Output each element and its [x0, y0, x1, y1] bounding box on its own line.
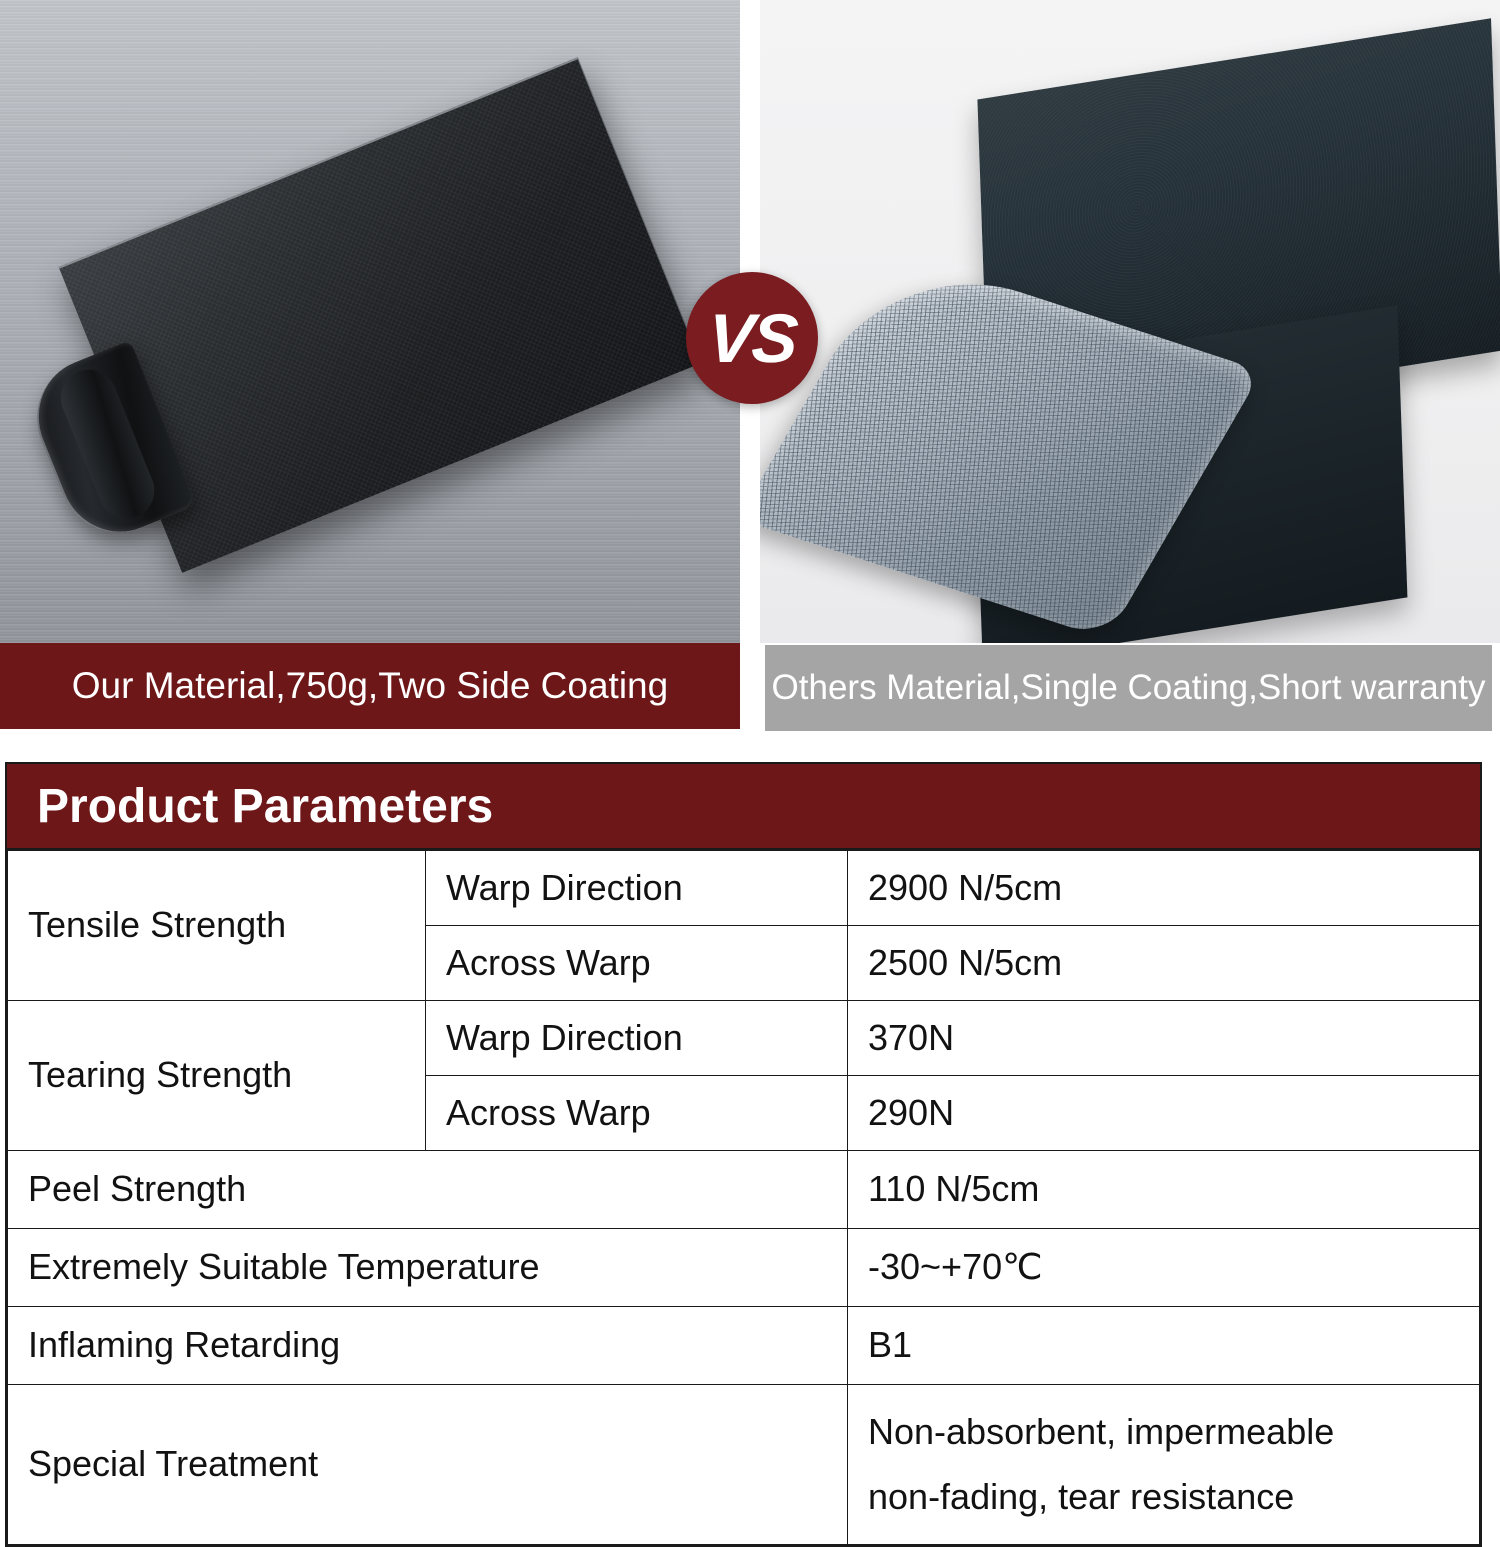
- spec-value-line: non-fading, tear resistance: [868, 1474, 1463, 1520]
- table-row: Peel Strength 110 N/5cm: [8, 1151, 1480, 1229]
- spec-label-peel-strength: Peel Strength: [8, 1151, 848, 1229]
- spec-label-tensile-strength: Tensile Strength: [8, 851, 426, 1001]
- product-parameters-table: Tensile Strength Warp Direction 2900 N/5…: [7, 850, 1480, 1545]
- others-material-photo: [760, 0, 1500, 643]
- our-material-photo: [0, 0, 740, 643]
- product-parameters-block: Product Parameters Tensile Strength Warp…: [5, 762, 1482, 1547]
- spec-value-inflaming-retarding: B1: [848, 1307, 1480, 1385]
- table-row: Tearing Strength Warp Direction 370N: [8, 1001, 1480, 1076]
- spec-sublabel-across-warp: Across Warp: [426, 1076, 848, 1151]
- spec-label-suitable-temperature: Extremely Suitable Temperature: [8, 1229, 848, 1307]
- table-row: Inflaming Retarding B1: [8, 1307, 1480, 1385]
- spec-sublabel-warp-direction: Warp Direction: [426, 851, 848, 926]
- spec-sublabel-warp-direction: Warp Direction: [426, 1001, 848, 1076]
- spec-value-line: Non-absorbent, impermeable: [868, 1409, 1463, 1455]
- table-row: Extremely Suitable Temperature -30~+70℃: [8, 1229, 1480, 1307]
- spec-value-special-treatment: Non-absorbent, impermeable non-fading, t…: [848, 1385, 1480, 1545]
- others-sheet-illustration: [780, 40, 1480, 620]
- table-row: Special Treatment Non-absorbent, imperme…: [8, 1385, 1480, 1545]
- tarp-curl-shadow: [52, 361, 162, 527]
- our-material-caption-text: Our Material,750g,Two Side Coating: [72, 665, 668, 707]
- spec-value-suitable-temperature: -30~+70℃: [848, 1229, 1480, 1307]
- spec-value-peel-strength: 110 N/5cm: [848, 1151, 1480, 1229]
- spec-value-tearing-warp: 370N: [848, 1001, 1480, 1076]
- spec-label-tearing-strength: Tearing Strength: [8, 1001, 426, 1151]
- vs-badge: VS: [686, 272, 818, 404]
- spec-label-inflaming-retarding: Inflaming Retarding: [8, 1307, 848, 1385]
- spec-value-tensile-warp: 2900 N/5cm: [848, 851, 1480, 926]
- product-parameters-header: Product Parameters: [7, 764, 1480, 850]
- comparison-section: Our Material,750g,Two Side Coating Other…: [0, 0, 1500, 733]
- tarp-sheet-illustration: [40, 120, 700, 590]
- spec-value-tearing-across: 290N: [848, 1076, 1480, 1151]
- product-parameters-title: Product Parameters: [37, 779, 493, 834]
- comparison-panel-others-material: Others Material,Single Coating,Short war…: [760, 0, 1500, 733]
- others-material-caption-bar: Others Material,Single Coating,Short war…: [765, 645, 1492, 731]
- comparison-panel-our-material: Our Material,750g,Two Side Coating: [0, 0, 740, 733]
- our-material-caption-bar: Our Material,750g,Two Side Coating: [0, 643, 740, 729]
- spec-value-tensile-across: 2500 N/5cm: [848, 926, 1480, 1001]
- table-row: Tensile Strength Warp Direction 2900 N/5…: [8, 851, 1480, 926]
- spec-label-special-treatment: Special Treatment: [8, 1385, 848, 1545]
- spec-sublabel-across-warp: Across Warp: [426, 926, 848, 1001]
- vs-badge-label: VS: [706, 304, 799, 373]
- others-material-caption-text: Others Material,Single Coating,Short war…: [772, 668, 1486, 708]
